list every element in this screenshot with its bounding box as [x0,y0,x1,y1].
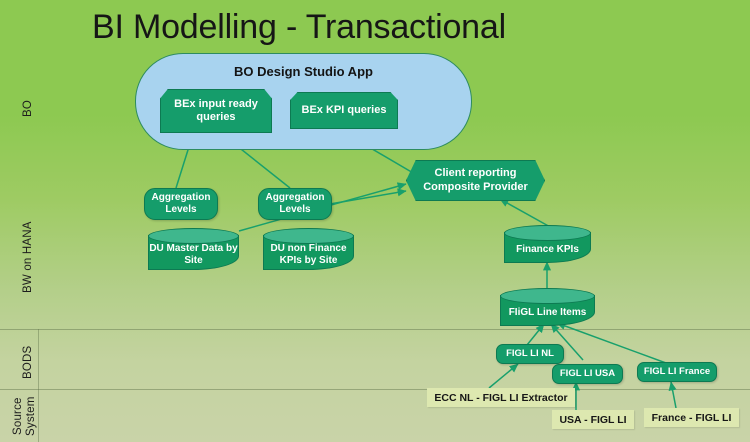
bex-kpi-queries-node[interactable]: BEx KPI queries [290,92,398,129]
du-master-data-by-site-label: DU Master Data by Site [148,241,239,268]
fiigl-line-items-label: FIiGL Line Items [500,301,595,324]
finance-kpis-node[interactable]: Finance KPIs [504,225,591,263]
du-master-data-by-site-node[interactable]: DU Master Data by Site [148,228,239,270]
usa-figl-li-node[interactable]: USA - FIGL LI [552,410,634,429]
figl-li-usa-label: FIGL LI USA [560,368,615,379]
finance-kpis-label: Finance KPIs [504,238,591,261]
bo-design-studio-app-label: BO Design Studio App [136,64,471,79]
ecc-nl-figl-li-extractor-label: ECC NL - FIGL LI Extractor [434,392,567,404]
du-non-finance-kpis-by-site-node[interactable]: DU non Finance KPIs by Site [263,228,354,270]
figl-li-france-label: FIGL LI France [644,366,710,377]
aggregation-levels-1-label: Aggregation Levels [145,192,217,216]
usa-figl-li-label: USA - FIGL LI [559,414,626,426]
figl-li-nl-node[interactable]: FIGL LI NL [496,344,564,364]
figl-li-usa-node[interactable]: FIGL LI USA [552,364,623,384]
bi-modelling-diagram: BO BW on HANA BODS Source System BI Mode… [0,0,750,442]
bex-kpi-queries-label: BEx KPI queries [302,104,387,117]
bex-input-ready-queries-node[interactable]: BEx input ready queries [160,89,272,133]
figl-li-france-node[interactable]: FIGL LI France [637,362,717,382]
du-non-finance-kpis-by-site-label: DU non Finance KPIs by Site [263,241,354,268]
client-reporting-composite-provider-node[interactable]: Client reporting Composite Provider [406,160,545,201]
fiigl-line-items-node[interactable]: FIiGL Line Items [500,288,595,326]
figl-li-nl-label: FIGL LI NL [506,348,554,359]
client-reporting-composite-provider-label: Client reporting Composite Provider [407,167,544,194]
france-figl-li-node[interactable]: France - FIGL LI [644,408,739,427]
bex-input-ready-queries-label: BEx input ready queries [161,98,271,124]
france-figl-li-label: France - FIGL LI [652,412,732,424]
aggregation-levels-2-node[interactable]: Aggregation Levels [258,188,332,220]
aggregation-levels-2-label: Aggregation Levels [259,192,331,216]
ecc-nl-figl-li-extractor-node[interactable]: ECC NL - FIGL LI Extractor [427,388,575,407]
aggregation-levels-1-node[interactable]: Aggregation Levels [144,188,218,220]
